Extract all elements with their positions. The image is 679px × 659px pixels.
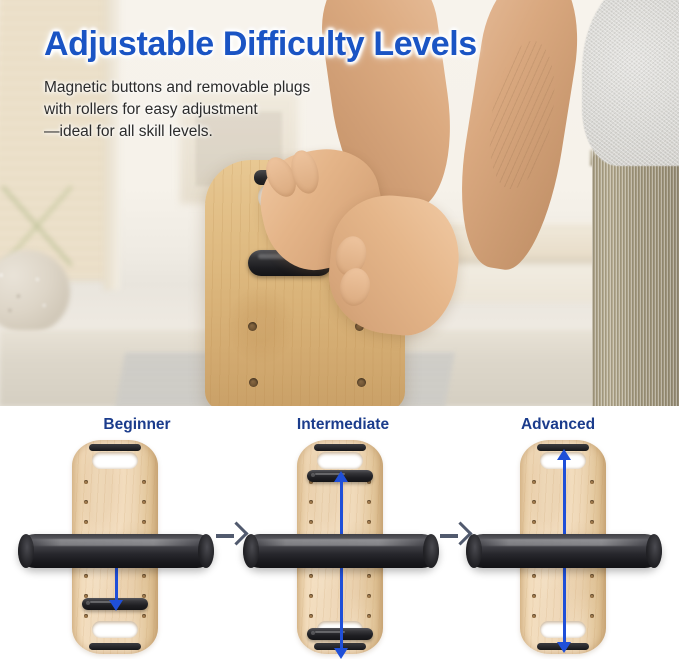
board-handle-grip-bottom (89, 643, 141, 650)
hero-description-line: —ideal for all skill levels. (44, 121, 374, 143)
board-screw-hole (590, 500, 594, 504)
board-screw-hole (532, 614, 536, 618)
hero-description-line: Magnetic buttons and removable plugs (44, 77, 374, 99)
measurement-arrow-head-bottom (334, 648, 348, 659)
board-screw-hole (142, 500, 146, 504)
board-screw-hole (367, 500, 371, 504)
board-screw-hole (84, 614, 88, 618)
board-screw-hole (142, 614, 146, 618)
board-screw-hole (84, 520, 88, 524)
measurement-arrow-head-bottom (557, 642, 571, 653)
board-screw-hole (532, 574, 536, 578)
board-screw-hole (142, 520, 146, 524)
board-handle-cutout-top (317, 452, 363, 469)
board-roller-highlight (255, 539, 427, 546)
level-labels: Beginner Intermediate Advanced (0, 416, 679, 436)
board-handle-grip-top (314, 444, 366, 451)
board-screw-hole (367, 614, 371, 618)
measurement-arrow-head-bottom (109, 600, 123, 611)
level-label-beginner: Beginner (82, 416, 192, 434)
board-screw-hole (142, 574, 146, 578)
board-screw-hole (367, 594, 371, 598)
board-screw-hole (532, 594, 536, 598)
level-label-intermediate: Intermediate (288, 416, 398, 434)
board-screw-hole (309, 614, 313, 618)
board-screw-hole (249, 378, 258, 387)
board-screw-hole (84, 480, 88, 484)
board-screw-hole (590, 594, 594, 598)
board-screw-hole (590, 614, 594, 618)
level-diagram-intermediate (235, 438, 450, 656)
board-screw-hole (532, 500, 536, 504)
measurement-arrow-head-top (334, 471, 348, 482)
board-screw-hole (367, 574, 371, 578)
board-screw-hole (590, 480, 594, 484)
board-screw-hole (590, 574, 594, 578)
board-screw-hole (84, 574, 88, 578)
level-diagram-advanced (458, 438, 673, 656)
hero-description: Magnetic buttons and removable plugs wit… (44, 77, 374, 143)
board-roller-highlight (478, 539, 650, 546)
board-handle-grip-top (89, 444, 141, 451)
board-screw-hole (532, 520, 536, 524)
level-diagram-beginner (10, 438, 225, 656)
board-screw-hole (309, 594, 313, 598)
measurement-arrow-head-top (557, 449, 571, 460)
difficulty-levels-panel: Beginner Intermediate Advanced (0, 406, 679, 659)
board-screw-hole (309, 574, 313, 578)
level-label-advanced: Advanced (503, 416, 613, 434)
hero-description-line: with rollers for easy adjustment (44, 99, 374, 121)
person-shirt-texture (582, 0, 679, 166)
board-handle-cutout-bottom (92, 621, 138, 638)
board-screw-hole (590, 520, 594, 524)
board-screw-hole (84, 500, 88, 504)
board-roller-highlight (30, 539, 202, 546)
person-pants-corduroy-texture (592, 150, 679, 406)
board-handle-cutout-top (92, 452, 138, 469)
board-screw-hole (142, 480, 146, 484)
board-screw-hole (367, 520, 371, 524)
board-screw-hole (357, 378, 366, 387)
board-screw-hole (309, 520, 313, 524)
board-screw-hole (532, 480, 536, 484)
board-screw-hole (309, 500, 313, 504)
page-title: Adjustable Difficulty Levels (44, 27, 477, 61)
board-screw-hole (248, 322, 257, 331)
product-infographic: Adjustable Difficulty Levels Magnetic bu… (0, 0, 679, 659)
hero-photo: Adjustable Difficulty Levels Magnetic bu… (0, 0, 679, 406)
